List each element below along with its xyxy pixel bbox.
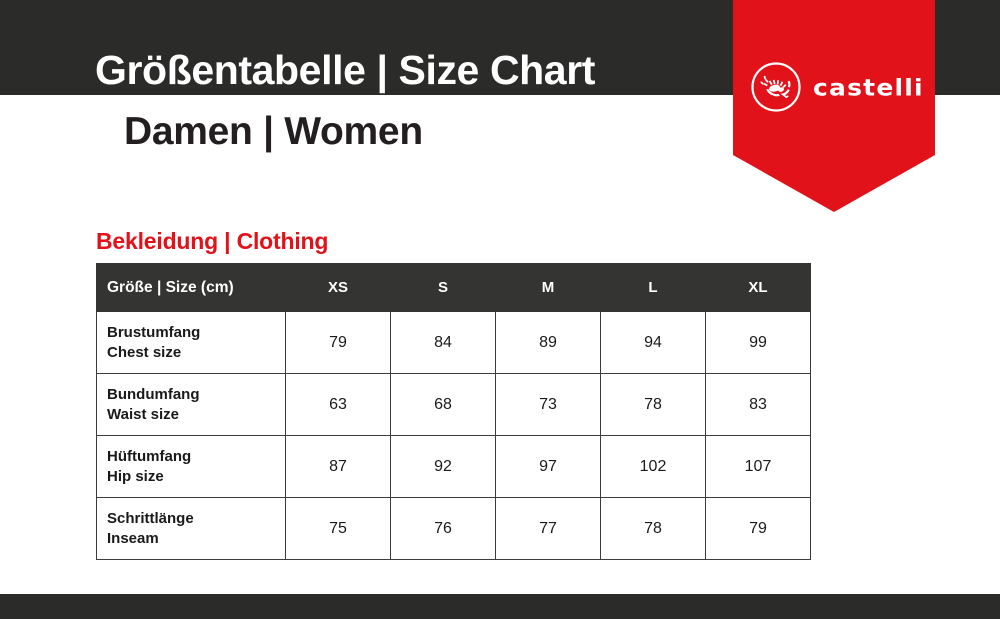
size-chart-table: Größe | Size (cm) XS S M L XL Brustumfan… <box>96 263 811 560</box>
row-label-de: Bundumfang <box>107 385 285 405</box>
row-label-en: Hip size <box>107 467 285 487</box>
table-header-row: Größe | Size (cm) XS S M L XL <box>97 264 811 312</box>
footer-band <box>0 594 1000 619</box>
column-header-label: Größe | Size (cm) <box>97 264 286 312</box>
cell-inseam-s: 76 <box>391 498 496 560</box>
section-heading: Bekleidung | Clothing <box>96 230 328 253</box>
cell-chest-xs: 79 <box>286 312 391 374</box>
cell-hip-xl: 107 <box>706 436 811 498</box>
cell-inseam-l: 78 <box>601 498 706 560</box>
page-title: Größentabelle | Size Chart <box>95 50 595 91</box>
cell-waist-s: 68 <box>391 374 496 436</box>
row-label-waist: Bundumfang Waist size <box>97 374 286 436</box>
row-label-inseam: Schrittlänge Inseam <box>97 498 286 560</box>
brand-logo: castelli <box>750 58 928 116</box>
row-label-chest: Brustumfang Chest size <box>97 312 286 374</box>
row-label-de: Hüftumfang <box>107 447 285 467</box>
page-subtitle: Damen | Women <box>124 112 423 151</box>
column-header-s: S <box>391 264 496 312</box>
row-label-en: Waist size <box>107 405 285 425</box>
column-header-xs: XS <box>286 264 391 312</box>
scorpion-icon <box>750 61 802 113</box>
cell-waist-l: 78 <box>601 374 706 436</box>
table-row: Brustumfang Chest size 79 84 89 94 99 <box>97 312 811 374</box>
column-header-l: L <box>601 264 706 312</box>
row-label-hip: Hüftumfang Hip size <box>97 436 286 498</box>
row-label-de: Brustumfang <box>107 323 285 343</box>
cell-inseam-m: 77 <box>496 498 601 560</box>
row-label-de: Schrittlänge <box>107 509 285 529</box>
cell-hip-m: 97 <box>496 436 601 498</box>
size-chart-page: Größentabelle | Size Chart Damen | Women <box>0 0 1000 619</box>
cell-hip-l: 102 <box>601 436 706 498</box>
cell-hip-xs: 87 <box>286 436 391 498</box>
table-row: Bundumfang Waist size 63 68 73 78 83 <box>97 374 811 436</box>
brand-wordmark: castelli <box>813 76 924 99</box>
column-header-m: M <box>496 264 601 312</box>
row-label-en: Chest size <box>107 343 285 363</box>
cell-chest-xl: 99 <box>706 312 811 374</box>
cell-chest-s: 84 <box>391 312 496 374</box>
row-label-en: Inseam <box>107 529 285 549</box>
column-header-xl: XL <box>706 264 811 312</box>
cell-chest-l: 94 <box>601 312 706 374</box>
cell-hip-s: 92 <box>391 436 496 498</box>
table-row: Schrittlänge Inseam 75 76 77 78 79 <box>97 498 811 560</box>
cell-inseam-xs: 75 <box>286 498 391 560</box>
cell-waist-m: 73 <box>496 374 601 436</box>
cell-waist-xl: 83 <box>706 374 811 436</box>
cell-inseam-xl: 79 <box>706 498 811 560</box>
cell-waist-xs: 63 <box>286 374 391 436</box>
cell-chest-m: 89 <box>496 312 601 374</box>
table-row: Hüftumfang Hip size 87 92 97 102 107 <box>97 436 811 498</box>
